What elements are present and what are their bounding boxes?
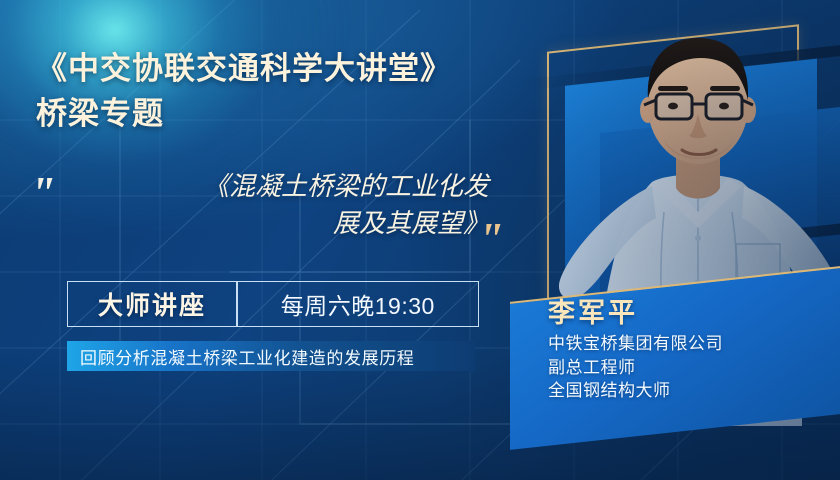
speaker-name: 李军平 (548, 298, 840, 329)
lecture-series-label: 大师讲座 (68, 286, 236, 322)
speaker-honor: 全国钢结构大师 (548, 379, 840, 402)
lecture-topic-quote: " 《混凝土桥梁的工业化发 展及其展望》 " (26, 168, 526, 242)
title-line-1: 《中交协联交通科学大讲堂》 (36, 48, 506, 89)
quote-open-icon: " (30, 170, 56, 216)
page-title: 《中交协联交通科学大讲堂》 桥梁专题 (36, 48, 506, 134)
lecture-info-bar: 大师讲座 每周六晚19:30 (67, 281, 479, 327)
lecture-description-bar: 回顾分析混凝土桥梁工业化建造的发展历程 (67, 341, 475, 371)
quote-text: 《混凝土桥梁的工业化发 展及其展望》 (84, 168, 489, 242)
speaker-info-content: 李军平 中铁宝桥集团有限公司 副总工程师 全国钢结构大师 (510, 286, 840, 432)
lecture-schedule: 每周六晚19:30 (238, 287, 478, 321)
quote-text-line-1: 《混凝土桥梁的工业化发 (84, 168, 489, 205)
quote-close-icon: " (478, 216, 504, 262)
speaker-affiliation: 中铁宝桥集团有限公司 (548, 332, 840, 355)
title-line-2: 桥梁专题 (36, 93, 506, 134)
poster-canvas: 《中交协联交通科学大讲堂》 桥梁专题 " 《混凝土桥梁的工业化发 展及其展望》 … (0, 0, 840, 480)
lecture-description-text: 回顾分析混凝土桥梁工业化建造的发展历程 (67, 344, 414, 369)
speaker-role: 副总工程师 (548, 356, 840, 379)
quote-text-line-2: 展及其展望》 (84, 205, 489, 242)
